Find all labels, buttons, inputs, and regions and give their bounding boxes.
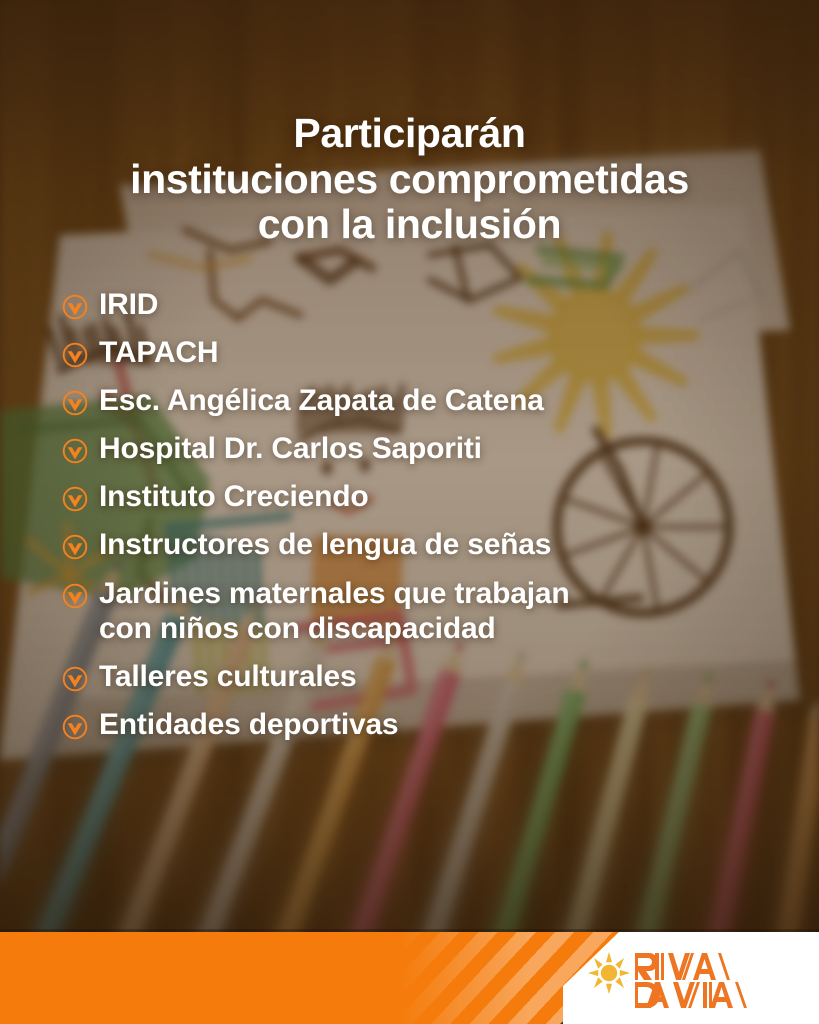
list-item: IRID [62, 287, 789, 322]
sun-icon [588, 952, 630, 994]
poster-content: Participarán instituciones comprometidas… [0, 0, 819, 1024]
list-item: TAPACH [62, 335, 789, 370]
list-item: Hospital Dr. Carlos Saporiti [62, 431, 789, 466]
check-circle-icon [62, 294, 88, 320]
list-item-label: Entidades deportivas [99, 707, 398, 742]
poster: Participarán instituciones comprometidas… [0, 0, 819, 1024]
institution-list: IRIDTAPACHEsc. Angélica Zapata de Catena… [62, 287, 789, 755]
check-circle-icon [62, 438, 88, 464]
check-circle-icon [62, 583, 88, 609]
check-circle-icon [62, 342, 88, 368]
title-line-1: Participarán [40, 111, 779, 156]
list-item: Entidades deportivas [62, 707, 789, 742]
check-circle-icon [62, 714, 88, 740]
check-circle-icon [62, 390, 88, 416]
list-item: Esc. Angélica Zapata de Catena [62, 383, 789, 418]
municipality-logo[interactable]: MUNICIPIO [585, 948, 795, 1008]
check-circle-icon [62, 534, 88, 560]
list-item-label: Instructores de lengua de señas [99, 527, 551, 562]
list-item-label-line-2: con niños con discapacidad [99, 611, 569, 646]
title-line-3: con la inclusión [40, 202, 779, 247]
list-item-label: Talleres culturales [99, 659, 356, 694]
list-item-label: Esc. Angélica Zapata de Catena [99, 383, 544, 418]
list-item-label: Hospital Dr. Carlos Saporiti [99, 431, 482, 466]
list-item-label: TAPACH [99, 335, 218, 370]
list-item: Instructores de lengua de señas [62, 527, 789, 562]
list-item-label: Instituto Creciendo [99, 479, 369, 514]
page-title: Participarán instituciones comprometidas… [40, 111, 779, 246]
check-circle-icon [62, 666, 88, 692]
footer: MUNICIPIO [0, 932, 819, 1024]
list-item: Talleres culturales [62, 659, 789, 694]
list-item: Jardines maternales que trabajancon niño… [62, 576, 789, 646]
title-line-2: instituciones comprometidas [40, 157, 779, 202]
check-circle-icon [62, 486, 88, 512]
list-item: Instituto Creciendo [62, 479, 789, 514]
logo-wordmark-davia [635, 982, 747, 1008]
list-item-label: IRID [99, 287, 158, 322]
logo-wordmark-riva [635, 953, 730, 980]
list-item-label: Jardines maternales que trabajancon niño… [99, 576, 569, 646]
